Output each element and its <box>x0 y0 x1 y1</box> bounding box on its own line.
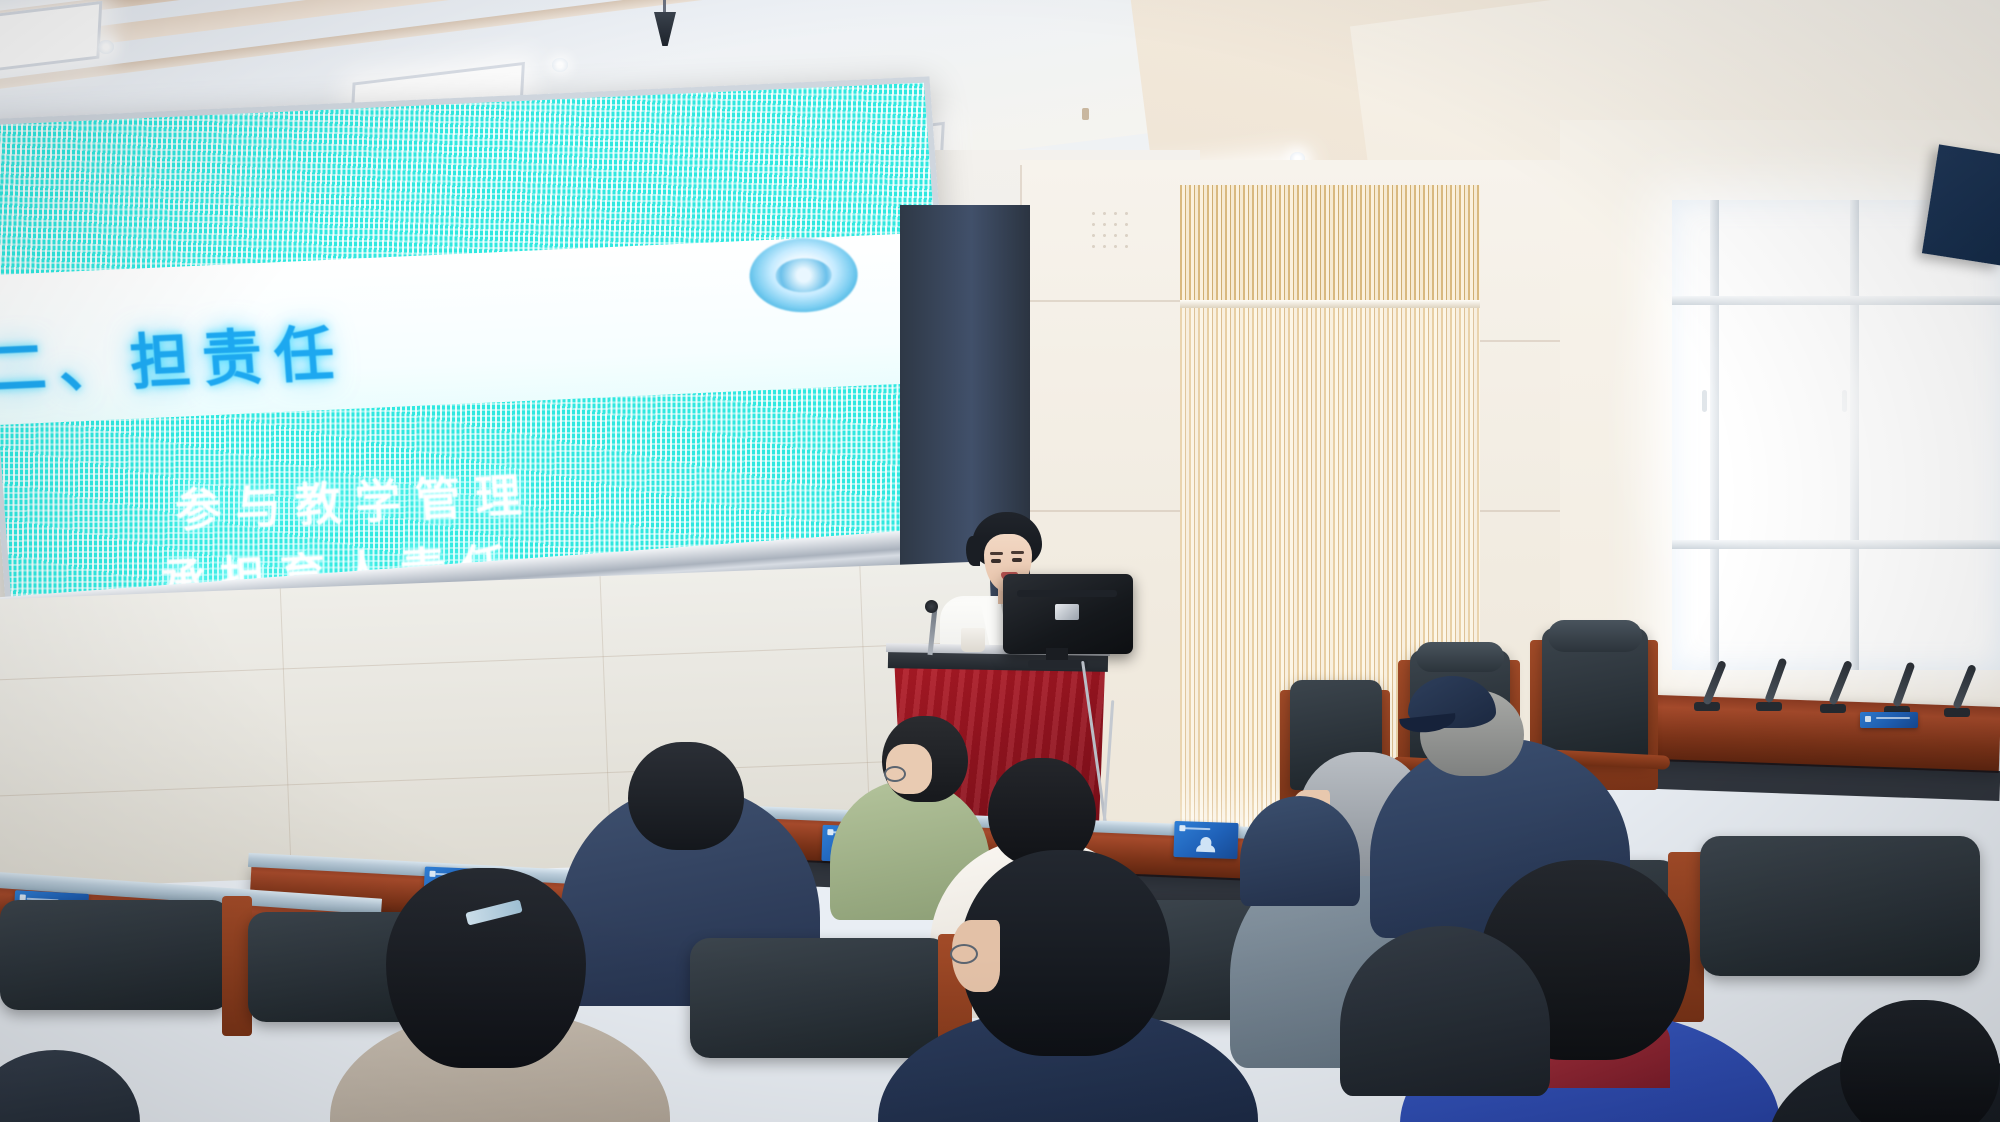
attendee-head <box>386 868 586 1068</box>
sprinkler-head-icon <box>1082 108 1089 120</box>
monitor-vent <box>1017 590 1117 597</box>
audience-chair[interactable] <box>690 938 950 1058</box>
window-mullion <box>1672 540 2000 549</box>
camera-mount <box>663 0 666 14</box>
presenter-eyebrow <box>1011 551 1024 554</box>
attendee-torso <box>0 1050 140 1122</box>
conference-chair-headrest <box>1548 620 1642 652</box>
nameplate-text-line <box>1184 827 1210 830</box>
tile-seam <box>0 641 992 681</box>
ceiling-downlight <box>98 40 114 54</box>
wall-seam <box>1020 300 1190 302</box>
wood-slat-wall-panel-top <box>1180 185 1480 305</box>
presenter-eye <box>991 559 1001 563</box>
podium-microphone-head-icon <box>925 600 938 613</box>
presenter-eyebrow <box>990 552 1003 555</box>
delegate-nameplate <box>1860 712 1918 728</box>
wall-panel-rail <box>1180 300 1480 308</box>
mic-base <box>1756 702 1782 711</box>
window-mullion <box>1672 296 2000 305</box>
monitor-brand-badge-icon <box>1055 604 1079 620</box>
audience-chair[interactable] <box>1700 836 1980 976</box>
mic-base <box>1944 708 1970 717</box>
tile-seam <box>0 757 997 797</box>
confidence-monitor <box>1003 574 1133 654</box>
delegate-nameplate <box>1173 821 1238 859</box>
eyeglasses-icon <box>950 944 978 964</box>
nameplate-text-line <box>1876 717 1910 719</box>
nameplate-person-icon <box>1200 837 1211 848</box>
monitor-stand-base <box>1028 660 1088 668</box>
attendee-head <box>628 742 744 850</box>
audience-chair[interactable] <box>0 900 230 1010</box>
speaker-grille-icon <box>1088 208 1132 248</box>
window-handle[interactable] <box>1702 390 1707 412</box>
window-mullion <box>1850 200 1859 670</box>
window <box>1672 200 2000 670</box>
eyeglasses-icon <box>884 766 906 782</box>
conference-hall-photo: 二、担责任 参与教学管理 承担育人责任 <box>0 0 2000 1122</box>
water-cup <box>961 628 985 652</box>
attendee-head <box>1840 1000 2000 1122</box>
tile-seam <box>280 588 292 878</box>
slide-title: 二、担责任 <box>0 305 349 408</box>
ceiling-downlight <box>552 58 568 72</box>
window-handle[interactable] <box>1842 390 1847 412</box>
conference-chair-headrest <box>1416 642 1504 672</box>
presenter-eye <box>1012 558 1022 562</box>
wall-seam <box>1020 510 1190 512</box>
mic-base <box>1820 704 1846 713</box>
window-mullion <box>1710 200 1719 670</box>
